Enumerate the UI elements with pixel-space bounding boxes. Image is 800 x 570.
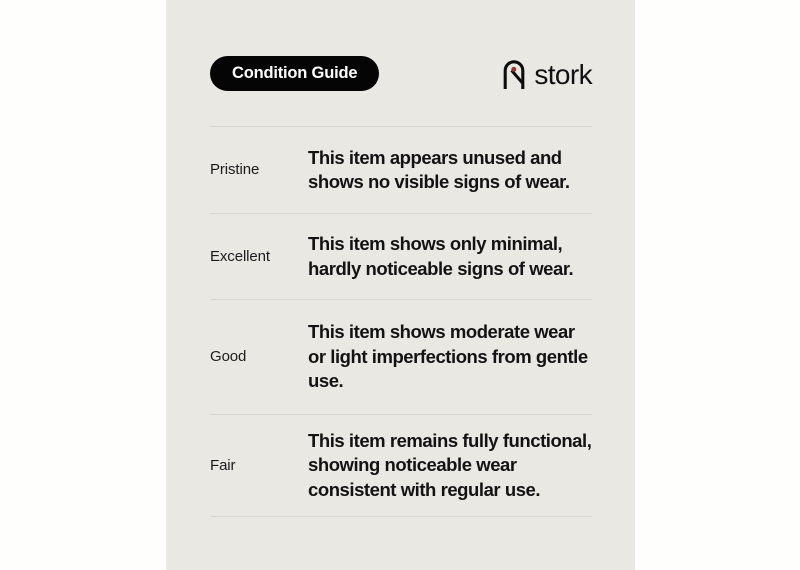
condition-label: Fair <box>210 457 308 475</box>
condition-description: This item appears unused and shows no vi… <box>308 146 592 195</box>
stork-arch-mark-icon <box>502 59 526 89</box>
condition-label: Excellent <box>210 248 308 266</box>
table-row: Good This item shows moderate wear or li… <box>210 300 592 414</box>
condition-description: This item shows only minimal, hardly not… <box>308 232 592 281</box>
condition-description: This item shows moderate wear or light i… <box>308 320 592 393</box>
stork-dot-icon <box>512 67 517 72</box>
brand-wordmark: stork <box>534 61 592 89</box>
condition-table: Pristine This item appears unused and sh… <box>210 126 592 517</box>
condition-guide-badge: Condition Guide <box>210 56 379 91</box>
table-row: Fair This item remains fully functional,… <box>210 415 592 516</box>
condition-guide-card: Condition Guide stork Pristine This item… <box>166 0 635 570</box>
card-header: Condition Guide stork <box>210 56 592 92</box>
brand-logo: stork <box>502 57 592 91</box>
table-row: Pristine This item appears unused and sh… <box>210 127 592 213</box>
page-root: Condition Guide stork Pristine This item… <box>0 0 800 570</box>
condition-label: Pristine <box>210 161 308 179</box>
condition-description: This item remains fully functional, show… <box>308 429 592 502</box>
table-divider-bottom <box>210 516 592 517</box>
condition-label: Good <box>210 348 308 366</box>
table-row: Excellent This item shows only minimal, … <box>210 214 592 299</box>
